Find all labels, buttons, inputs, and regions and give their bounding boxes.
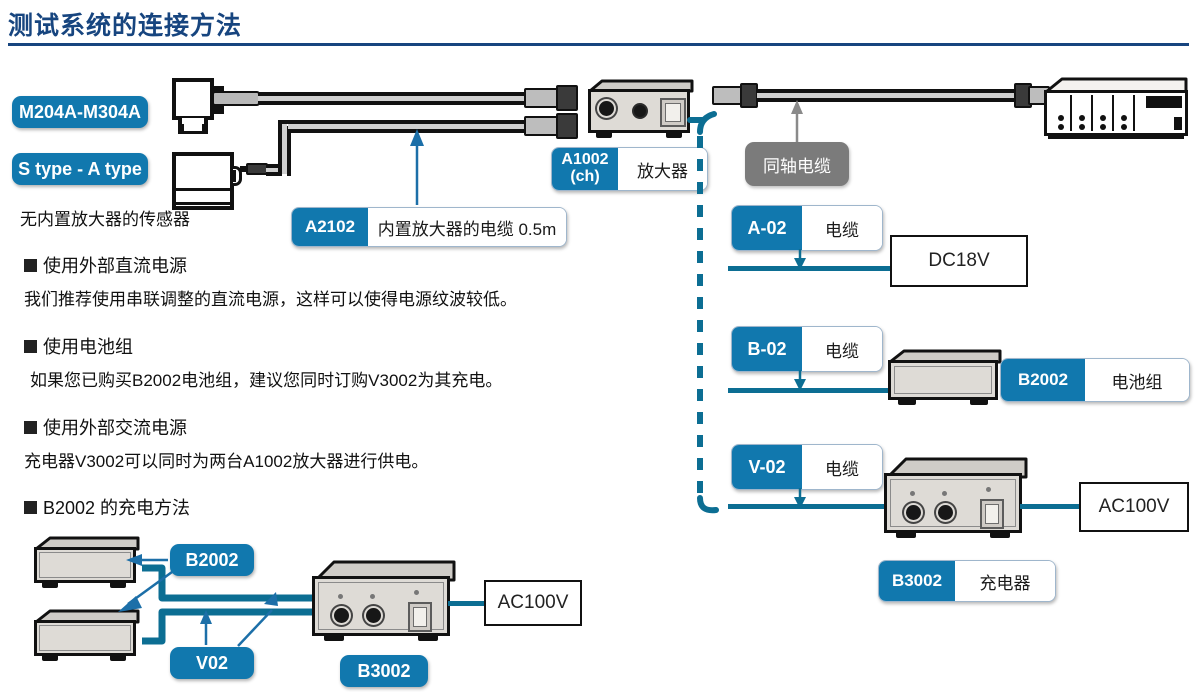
section-heading-0-text: 使用外部直流电源 <box>43 252 187 278</box>
charger-right-led-3 <box>986 487 991 492</box>
charger-bottom-socket-1 <box>334 608 349 623</box>
battery-upper-inner <box>39 552 131 578</box>
page-title: 测试系统的连接方法 <box>8 6 242 42</box>
tag-a1002-desc: 放大器 <box>618 148 707 190</box>
logger-led-7 <box>1100 124 1106 130</box>
section-heading-1: 使用电池组 <box>24 333 133 359</box>
box-ac100v-right: AC100V <box>1079 482 1189 532</box>
tag-a2102-desc: 内置放大器的电缆 0.5m <box>368 208 566 246</box>
sensor1-cable-core <box>258 96 526 101</box>
tag-a1002-code-line1: A1002 <box>561 152 608 169</box>
amplifier-power-switch[interactable] <box>660 98 686 127</box>
charger-bottom-foot-right <box>418 636 438 641</box>
badge-b3002-charging: B3002 <box>340 655 428 687</box>
sensor1-connector <box>212 91 260 106</box>
badge-s-type-a-type: S type - A type <box>12 153 148 185</box>
sensor2-plug <box>246 163 268 175</box>
charger-right-led-2 <box>942 491 947 496</box>
badge-b2002-charging: B2002 <box>170 544 254 576</box>
bullet-square-icon <box>24 340 37 353</box>
tag-a-02-code: A-02 <box>732 206 802 250</box>
coax-cable-core <box>757 93 1015 98</box>
badge-coaxial-cable: 同轴电缆 <box>745 142 849 186</box>
section-heading-1-text: 使用电池组 <box>43 333 133 359</box>
tag-b2002-desc: 电池组 <box>1085 359 1189 401</box>
wire-b02-to-battery <box>728 388 898 393</box>
tag-v-02: V-02 电缆 <box>731 444 883 490</box>
section-heading-0: 使用外部直流电源 <box>24 252 187 278</box>
sensor2-cable-v2 <box>287 126 291 176</box>
tag-a1002: A1002 (ch) 放大器 <box>551 147 708 191</box>
tag-a-02: A-02 电缆 <box>731 205 883 251</box>
title-underline <box>8 43 1189 46</box>
sensor2-cable-core2 <box>288 124 528 129</box>
coax-connector-left-body <box>740 83 758 108</box>
logger-led-8 <box>1121 124 1127 130</box>
wire-charger-to-ac100v <box>1020 504 1082 509</box>
battery-upper-foot-left <box>42 583 58 588</box>
charger-bottom-power-switch[interactable] <box>408 602 432 632</box>
sensor-probe-m204a <box>172 78 242 142</box>
charger-right-socket-2 <box>938 505 953 520</box>
amplifier-bnc-1 <box>599 101 614 116</box>
tag-b-02: B-02 电缆 <box>731 326 883 372</box>
tag-v-02-desc: 电缆 <box>802 445 882 489</box>
section-heading-3-text: B2002 的充电方法 <box>43 494 190 520</box>
amplifier-bnc-2 <box>632 103 648 119</box>
tag-b3002: B3002 充电器 <box>878 560 1056 602</box>
section-heading-2: 使用外部交流电源 <box>24 414 187 440</box>
section-body-0: 我们推荐使用串联调整的直流电源，这样可以使得电源纹波较低。 <box>24 285 517 310</box>
amp-connector-top <box>524 88 560 108</box>
battery-box-lower <box>32 608 142 666</box>
tag-b3002-code: B3002 <box>879 561 955 601</box>
charger-bottom-led-2 <box>370 594 375 599</box>
battery-upper-foot-right <box>110 583 126 588</box>
logger-led-4 <box>1121 115 1127 121</box>
battery-lower-foot-right <box>110 656 126 661</box>
charger-right-led-1 <box>910 491 915 496</box>
tag-b2002-code: B2002 <box>1001 359 1085 401</box>
sensor2-cable-h4 <box>288 129 528 133</box>
charger-right-foot-left <box>896 533 916 538</box>
amplifier-device <box>586 79 696 141</box>
battery-box-upper <box>32 535 142 593</box>
wire-a02-to-dc18v <box>728 266 904 271</box>
sensor2-cable-h2 <box>266 172 282 176</box>
tag-v-02-code: V-02 <box>732 445 802 489</box>
tag-a1002-code: A1002 (ch) <box>552 148 618 190</box>
logger-led-5 <box>1058 124 1064 130</box>
badge-v02-charging: V02 <box>170 647 254 679</box>
charger-bottom-led-3 <box>414 590 419 595</box>
badge-m204a-m304a: M204A-M304A <box>12 96 148 128</box>
tag-a2102-code: A2102 <box>292 208 368 246</box>
charger-device-right <box>882 455 1030 545</box>
amplifier-foot-left <box>596 133 612 138</box>
tag-a1002-code-line2: (ch) <box>570 169 599 186</box>
box-ac100v-bottom: AC100V <box>484 580 582 626</box>
box-dc18v: DC18V <box>890 235 1028 287</box>
section-body-2: 充电器V3002可以同时为两台A1002放大器进行供电。 <box>24 447 428 472</box>
charger-bottom-socket-2 <box>366 608 381 623</box>
sensor2-plug-tip <box>240 166 248 172</box>
battery-lower-foot-left <box>42 656 58 661</box>
sensor-caption: 无内置放大器的传感器 <box>20 205 190 230</box>
bullet-square-icon <box>24 421 37 434</box>
sensor-box-stype <box>172 152 242 214</box>
amplifier-foot-right <box>666 133 682 138</box>
wire-charger-bottom-to-ac100v <box>448 601 488 606</box>
battery-foot-left <box>898 400 916 405</box>
logger-led-1 <box>1058 115 1064 121</box>
amp-connector-bottom <box>524 116 560 136</box>
sensor1-cable-bottom <box>258 101 526 105</box>
tag-b2002: B2002 电池组 <box>1000 358 1190 402</box>
logger-led-2 <box>1079 115 1085 121</box>
tag-a2102: A2102 内置放大器的电缆 0.5m <box>291 207 567 247</box>
battery-lower-inner <box>39 625 131 651</box>
tag-b-02-code: B-02 <box>732 327 802 371</box>
sensor2-cable-corev <box>282 124 287 174</box>
charger-bottom-led-1 <box>338 594 343 599</box>
section-heading-2-text: 使用外部交流电源 <box>43 414 187 440</box>
battery-foot-right <box>970 400 988 405</box>
charger-right-socket-1 <box>906 505 921 520</box>
section-heading-3: B2002 的充电方法 <box>24 494 190 520</box>
wire-v02-to-charger <box>728 504 888 509</box>
tag-b-02-desc: 电缆 <box>802 327 882 371</box>
charger-bottom-foot-left <box>324 636 344 641</box>
amp-connector-top-body <box>556 85 578 111</box>
amp-connector-bottom-body <box>556 113 578 139</box>
battery-pack-device <box>886 348 1004 410</box>
logger-led-3 <box>1100 115 1106 121</box>
charger-device-bottom <box>310 558 458 648</box>
data-logger-device <box>1044 76 1190 146</box>
bullet-square-icon <box>24 501 37 514</box>
coax-cable-bottom <box>757 98 1015 102</box>
tag-b3002-desc: 充电器 <box>955 561 1055 601</box>
charger-right-foot-right <box>990 533 1010 538</box>
tag-a-02-desc: 电缆 <box>802 206 882 250</box>
charger-right-power-switch[interactable] <box>980 499 1004 529</box>
bullet-square-icon <box>24 259 37 272</box>
logger-led-6 <box>1079 124 1085 130</box>
battery-inner-panel <box>894 366 992 394</box>
section-body-1: 如果您已购买B2002电池组，建议您同时订购V3002为其充电。 <box>30 366 502 391</box>
